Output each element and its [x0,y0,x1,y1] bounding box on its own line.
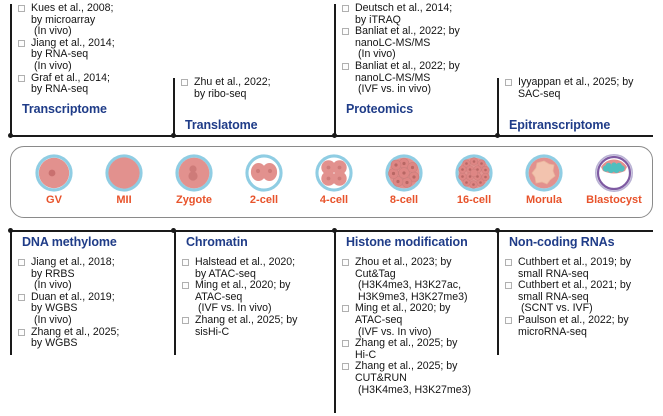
ref-line: SAC-seq [518,89,663,101]
embryo-stage-mii: MII [91,151,157,206]
four-cell-embryo-icon [312,151,356,195]
list-item: Jiang et al., 2018; by RRBS (In vivo) [18,257,170,292]
ref-line: by RNA-seq [31,84,168,96]
list-item: Paulson et al., 2022; by microRNA-seq [505,315,663,338]
bullet-square-icon [18,329,25,336]
list-item: Cuthbert et al., 2019; by small RNA-seq [505,257,663,280]
section-title-epitranscriptome: Epitranscriptome [509,118,663,132]
ref-line: Deutsch et al., 2014; [355,3,502,15]
ref-line: Jiang et al., 2018; [31,257,170,269]
ref-line: microRNA-seq [518,327,663,339]
ref-line: (H3K4me3, H3K27me3) [355,385,502,397]
bullet-square-icon [342,63,349,70]
multi-omics-timeline-figure: Kues et al., 2008; by microarray (In viv… [0,0,663,416]
dna-methylome-reference-list: Jiang et al., 2018; by RRBS (In vivo) Du… [18,257,170,350]
embryo-stage-2-cell: 2-cell [231,151,297,206]
gv-oocyte-icon [32,151,76,195]
embryo-stage-panel: GV MII [10,146,653,218]
section-dna-methylome: DNA methylome Jiang et al., 2018; by RRB… [18,235,170,350]
bullet-square-icon [18,75,25,82]
section-title-translatome: Translatome [185,118,331,132]
embryo-stage-morula: Morula [511,151,577,206]
list-item: Zhang et al., 2025; by sisHi-C [182,315,334,338]
top-stem-proteomics [334,4,336,136]
ref-line: Zhu et al., 2022; [194,77,331,89]
stage-label-morula: Morula [511,194,577,206]
section-histone-modification: Histone modification Zhou et al., 2023; … [342,235,502,396]
list-item: Deutsch et al., 2014; by iTRAQ [342,3,502,26]
bullet-square-icon [505,79,512,86]
two-cell-embryo-icon [242,151,286,195]
bullet-square-icon [18,259,25,266]
ref-line: (In vivo) [31,315,170,327]
ref-line: Kues et al., 2008; [31,3,168,15]
list-item: Zhang et al., 2025; by WGBS [18,327,170,350]
stage-label-8-cell: 8-cell [371,194,437,206]
non-coding-rnas-reference-list: Cuthbert et al., 2019; by small RNA-seq … [505,257,663,338]
embryo-stage-zygote: Zygote [161,151,227,206]
bullet-square-icon [342,5,349,12]
chromatin-reference-list: Halstead et al., 2020; by ATAC-seq Ming … [182,257,334,338]
section-transcriptome: Kues et al., 2008; by microarray (In viv… [18,3,168,116]
bullet-square-icon [18,5,25,12]
bullet-square-icon [182,259,189,266]
section-translatome: Zhu et al., 2022; by ribo-seq Translatom… [181,77,331,132]
bullet-square-icon [182,282,189,289]
embryo-stage-16-cell: 16-cell [441,151,507,206]
ref-line: Iyyappan et al., 2025; by [518,77,663,89]
zygote-icon [172,151,216,195]
list-item: Banliat et al., 2022; by nanoLC-MS/MS (I… [342,61,502,96]
stage-label-2-cell: 2-cell [231,194,297,206]
list-item: Duan et al., 2019; by WGBS (In vivo) [18,292,170,327]
ref-line: Zhang et al., 2025; by [355,338,502,350]
list-item: Halstead et al., 2020; by ATAC-seq [182,257,334,280]
list-item: Ming et al., 2020; by ATAC-seq (IVF vs. … [182,280,334,315]
list-item: Zhu et al., 2022; by ribo-seq [181,77,331,100]
embryo-stage-gv: GV [21,151,87,206]
bullet-square-icon [505,259,512,266]
transcriptome-reference-list: Kues et al., 2008; by microarray (In viv… [18,3,168,96]
bullet-square-icon [342,259,349,266]
bullet-square-icon [505,317,512,324]
section-title-non-coding-rnas: Non-coding RNAs [509,235,663,249]
embryo-stage-8-cell: 8-cell [371,151,437,206]
list-item: Graf et al., 2014; by RNA-seq [18,73,168,96]
section-chromatin: Chromatin Halstead et al., 2020; by ATAC… [182,235,334,338]
section-non-coding-rnas: Non-coding RNAs Cuthbert et al., 2019; b… [505,235,663,338]
section-proteomics: Deutsch et al., 2014; by iTRAQ Banliat e… [342,3,502,116]
bottom-stem-histone-modification [334,231,336,413]
proteomics-reference-list: Deutsch et al., 2014; by iTRAQ Banliat e… [342,3,502,96]
bullet-square-icon [181,79,188,86]
list-item: Kues et al., 2008; by microarray (In viv… [18,3,168,38]
ref-line: by WGBS [31,338,170,350]
bullet-square-icon [182,317,189,324]
ref-line: CUT&RUN [355,373,502,385]
stage-label-16-cell: 16-cell [441,194,507,206]
section-title-proteomics: Proteomics [346,102,502,116]
bullet-square-icon [505,282,512,289]
section-title-histone-modification: Histone modification [346,235,502,249]
morula-icon [522,151,566,195]
ref-line: sisHi-C [195,327,334,339]
mii-oocyte-icon [102,151,146,195]
bullet-square-icon [342,28,349,35]
section-title-chromatin: Chromatin [186,235,334,249]
bottom-stem-dna-methylome [10,231,12,355]
ref-line: Cuthbert et al., 2019; by [518,257,663,269]
list-item: Cuthbert et al., 2021; by small RNA-seq … [505,280,663,315]
bullet-square-icon [18,294,25,301]
bullet-square-icon [342,363,349,370]
bullet-square-icon [342,340,349,347]
bullet-square-icon [18,40,25,47]
top-stem-translatome [173,78,175,136]
ref-line: Paulson et al., 2022; by [518,315,663,327]
list-item: Iyyappan et al., 2025; by SAC-seq [505,77,663,100]
ref-line: Zhou et al., 2023; by [355,257,502,269]
stage-label-zygote: Zygote [161,194,227,206]
stage-label-4-cell: 4-cell [301,194,367,206]
stage-label-blastocyst: Blastocyst [581,194,647,206]
sixteen-cell-embryo-icon [452,151,496,195]
section-epitranscriptome: Iyyappan et al., 2025; by SAC-seq Epitra… [505,77,663,132]
bullet-square-icon [342,305,349,312]
ref-line: Halstead et al., 2020; [195,257,334,269]
top-stem-transcriptome [10,4,12,136]
embryo-stage-4-cell: 4-cell [301,151,367,206]
translatome-reference-list: Zhu et al., 2022; by ribo-seq [181,77,331,100]
list-item: Ming et al., 2020; by ATAC-seq (IVF vs. … [342,303,502,338]
list-item: Zhang et al., 2025; by CUT&RUN (H3K4me3,… [342,361,502,396]
ref-line: Banliat et al., 2022; by [355,61,502,73]
ref-line: ATAC-seq [355,315,502,327]
section-title-dna-methylome: DNA methylome [22,235,170,249]
epitranscriptome-reference-list: Iyyappan et al., 2025; by SAC-seq [505,77,663,100]
blastocyst-icon [592,151,636,195]
stage-label-gv: GV [21,194,87,206]
list-item: Banliat et al., 2022; by nanoLC-MS/MS (I… [342,26,502,61]
ref-line: by ribo-seq [194,89,331,101]
bottom-stem-chromatin [174,231,176,355]
stage-label-mii: MII [91,194,157,206]
embryo-stage-blastocyst: Blastocyst [581,151,647,206]
list-item: Zhang et al., 2025; by Hi-C [342,338,502,361]
list-item: Jiang et al., 2014; by RNA-seq (In vivo) [18,38,168,73]
ref-line: (In vivo) [31,61,168,73]
section-title-transcriptome: Transcriptome [22,102,168,116]
ref-line: (IVF vs. in vivo) [355,84,502,96]
eight-cell-embryo-icon [382,151,426,195]
list-item: Zhou et al., 2023; by Cut&Tag (H3K4me3, … [342,257,502,303]
histone-modification-reference-list: Zhou et al., 2023; by Cut&Tag (H3K4me3, … [342,257,502,396]
ref-line: Zhang et al., 2025; by [195,315,334,327]
